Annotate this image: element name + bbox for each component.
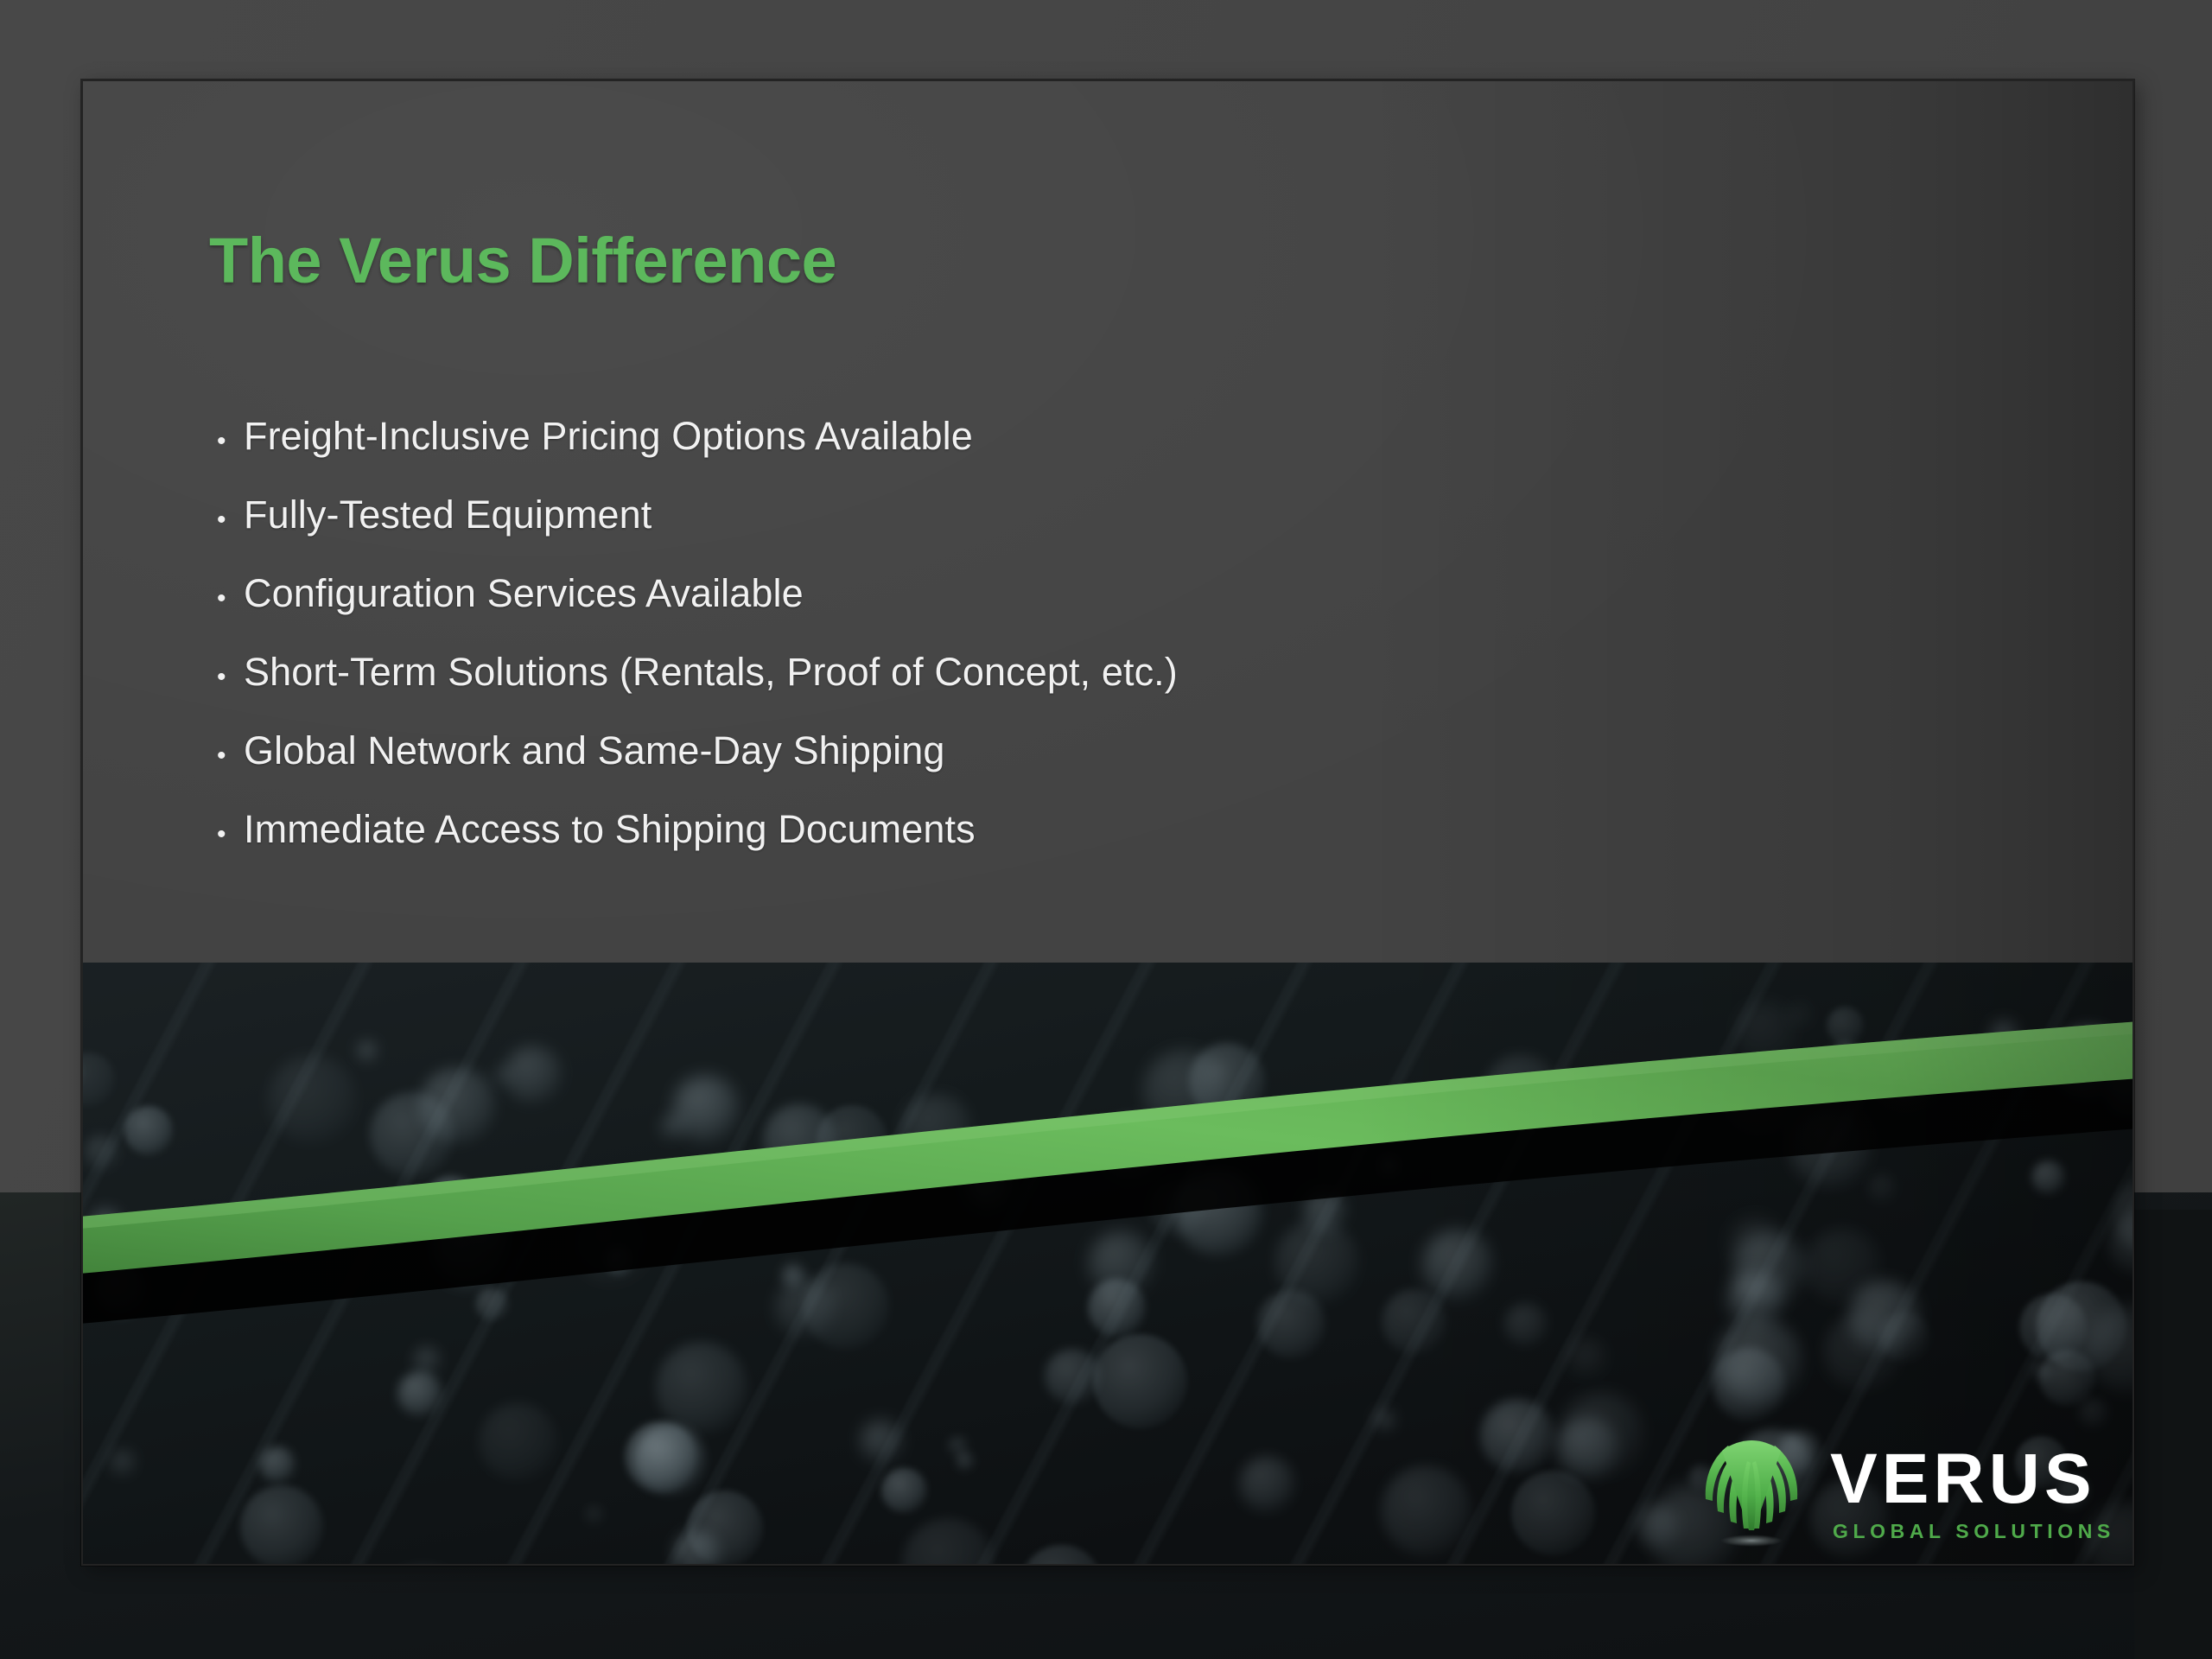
bokeh-circle [656,1342,747,1433]
bullet-marker-icon: • [209,586,244,612]
bokeh-circle [268,1055,357,1144]
bokeh-circle [94,1263,149,1318]
bokeh-circle [1727,1270,1785,1328]
bokeh-circle [1568,1338,1607,1377]
bokeh-circle [479,1402,557,1481]
list-item-label: Configuration Services Available [244,571,804,616]
bullet-marker-icon: • [209,429,244,454]
bokeh-circle [2039,1350,2095,1406]
fan-mark-svg [1695,1425,1808,1563]
bokeh-circle [491,1065,514,1088]
bokeh-circle [1480,1399,1554,1473]
bokeh-circle [585,1505,604,1524]
bokeh-circle [84,1135,118,1169]
bokeh-circle [1868,1173,1897,1203]
list-item-label: Short-Term Solutions (Rentals, Proof of … [244,650,1178,695]
bokeh-circle [1088,1279,1146,1337]
logo-wordmark: VERUS [1830,1445,2115,1514]
list-item-label: Global Network and Same-Day Shipping [244,728,945,773]
bokeh-circle [2031,1160,2065,1194]
bullet-marker-icon: • [209,743,244,769]
bokeh-circle [803,1263,889,1350]
bokeh-circle [860,1420,903,1463]
bokeh-circle [1726,1062,1800,1136]
bokeh-circle [108,1249,125,1267]
bullet-list: •Freight-Inclusive Pricing Options Avail… [209,414,1851,886]
backdrop-photo-bleed-right [2134,1210,2212,1659]
bokeh-circle [1257,1290,1325,1358]
bokeh-circle [1504,1303,1548,1346]
bokeh-circle [240,1485,324,1566]
bokeh-circle [672,1075,740,1142]
bokeh-circle [1560,1392,1645,1478]
bokeh-circle [1990,1020,2019,1050]
bokeh-circle [413,1346,442,1375]
bokeh-circle [1100,1116,1163,1179]
bokeh-circle [90,1209,123,1242]
bokeh-circle [687,1491,763,1566]
bokeh-circle [1239,1456,1295,1512]
bullet-marker-icon: • [209,664,244,690]
bokeh-circle [1093,1334,1187,1428]
bokeh-circle [763,1103,837,1178]
bokeh-circle [418,1067,495,1144]
verus-logo: VERUS GLOBAL SOLUTIONS [1695,1408,2134,1566]
bokeh-circle [575,1208,651,1284]
bokeh-circle [124,1106,173,1154]
list-item: •Global Network and Same-Day Shipping [209,728,1851,807]
bokeh-circle [357,1040,379,1063]
bokeh-circle [1635,1504,1680,1549]
bokeh-circle [1827,1007,1865,1045]
page-title: The Verus Difference [209,224,836,297]
bokeh-circle [1381,1465,1471,1556]
bokeh-circle [1511,1471,1595,1554]
bokeh-circle [111,1450,137,1476]
list-item: •Configuration Services Available [209,571,1851,650]
list-item: •Immediate Access to Shipping Documents [209,807,1851,886]
bokeh-circle [276,1224,308,1257]
bokeh-circle [1382,1289,1446,1354]
presentation-slide: The Verus Difference •Freight-Inclusive … [81,79,2134,1566]
list-item-label: Immediate Access to Shipping Documents [244,807,976,852]
bokeh-circle [901,1094,972,1165]
bokeh-circle [397,1371,442,1416]
logo-tagline: GLOBAL SOLUTIONS [1833,1520,2115,1543]
list-item-label: Fully-Tested Equipment [244,493,652,537]
bokeh-circle [1045,1349,1100,1404]
list-item: •Fully-Tested Equipment [209,493,1851,571]
bokeh-circle [470,1204,516,1249]
bullet-marker-icon: • [209,822,244,848]
list-item: •Short-Term Solutions (Rentals, Proof of… [209,650,1851,728]
logo-wordmark-group: VERUS GLOBAL SOLUTIONS [1830,1445,2115,1543]
bokeh-circle [881,1468,926,1513]
bullet-marker-icon: • [209,507,244,533]
bokeh-circle [1484,1054,1559,1129]
bokeh-circle [1879,1312,1930,1363]
bokeh-circle [1728,1217,1784,1273]
bokeh-circle [1421,1229,1494,1301]
verus-fan-mark-icon [1695,1425,1808,1563]
bokeh-circle [1303,1190,1346,1233]
bokeh-circle [1175,1169,1262,1256]
bokeh-circle [1736,1001,1796,1061]
list-item-label: Freight-Inclusive Pricing Options Availa… [244,414,973,459]
bokeh-circle [1189,1043,1265,1119]
bokeh-circle [1789,1106,1872,1188]
list-item: •Freight-Inclusive Pricing Options Avail… [209,414,1851,493]
bokeh-circle [625,1421,696,1493]
bokeh-circle [1790,1005,1810,1025]
bokeh-circle [1715,1318,1802,1405]
bokeh-circle [530,1209,545,1224]
bokeh-circle [1878,1048,1936,1106]
bokeh-circle [782,1264,805,1287]
